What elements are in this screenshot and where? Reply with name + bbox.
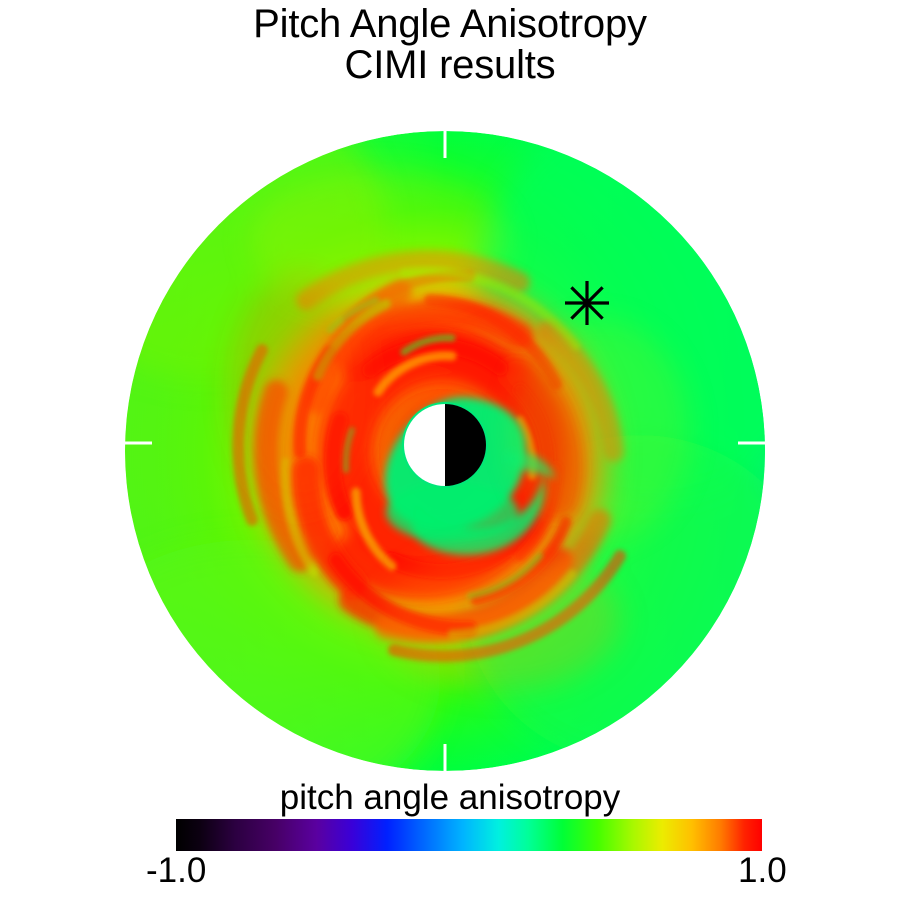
colorbar-max-label: 1.0 xyxy=(738,851,787,891)
figure-root: Pitch Angle Anisotropy CIMI results xyxy=(0,0,900,900)
colorbar-min-label: -1.0 xyxy=(146,851,206,891)
satellite-asterisk-icon[interactable] xyxy=(565,281,609,325)
colorbar[interactable] xyxy=(176,819,762,851)
colorbar-gradient xyxy=(176,819,762,851)
anisotropy-map xyxy=(0,0,900,790)
earth-symbol xyxy=(402,402,488,488)
colorbar-label: pitch angle anisotropy xyxy=(0,778,900,818)
polar-plot-area xyxy=(0,0,900,790)
